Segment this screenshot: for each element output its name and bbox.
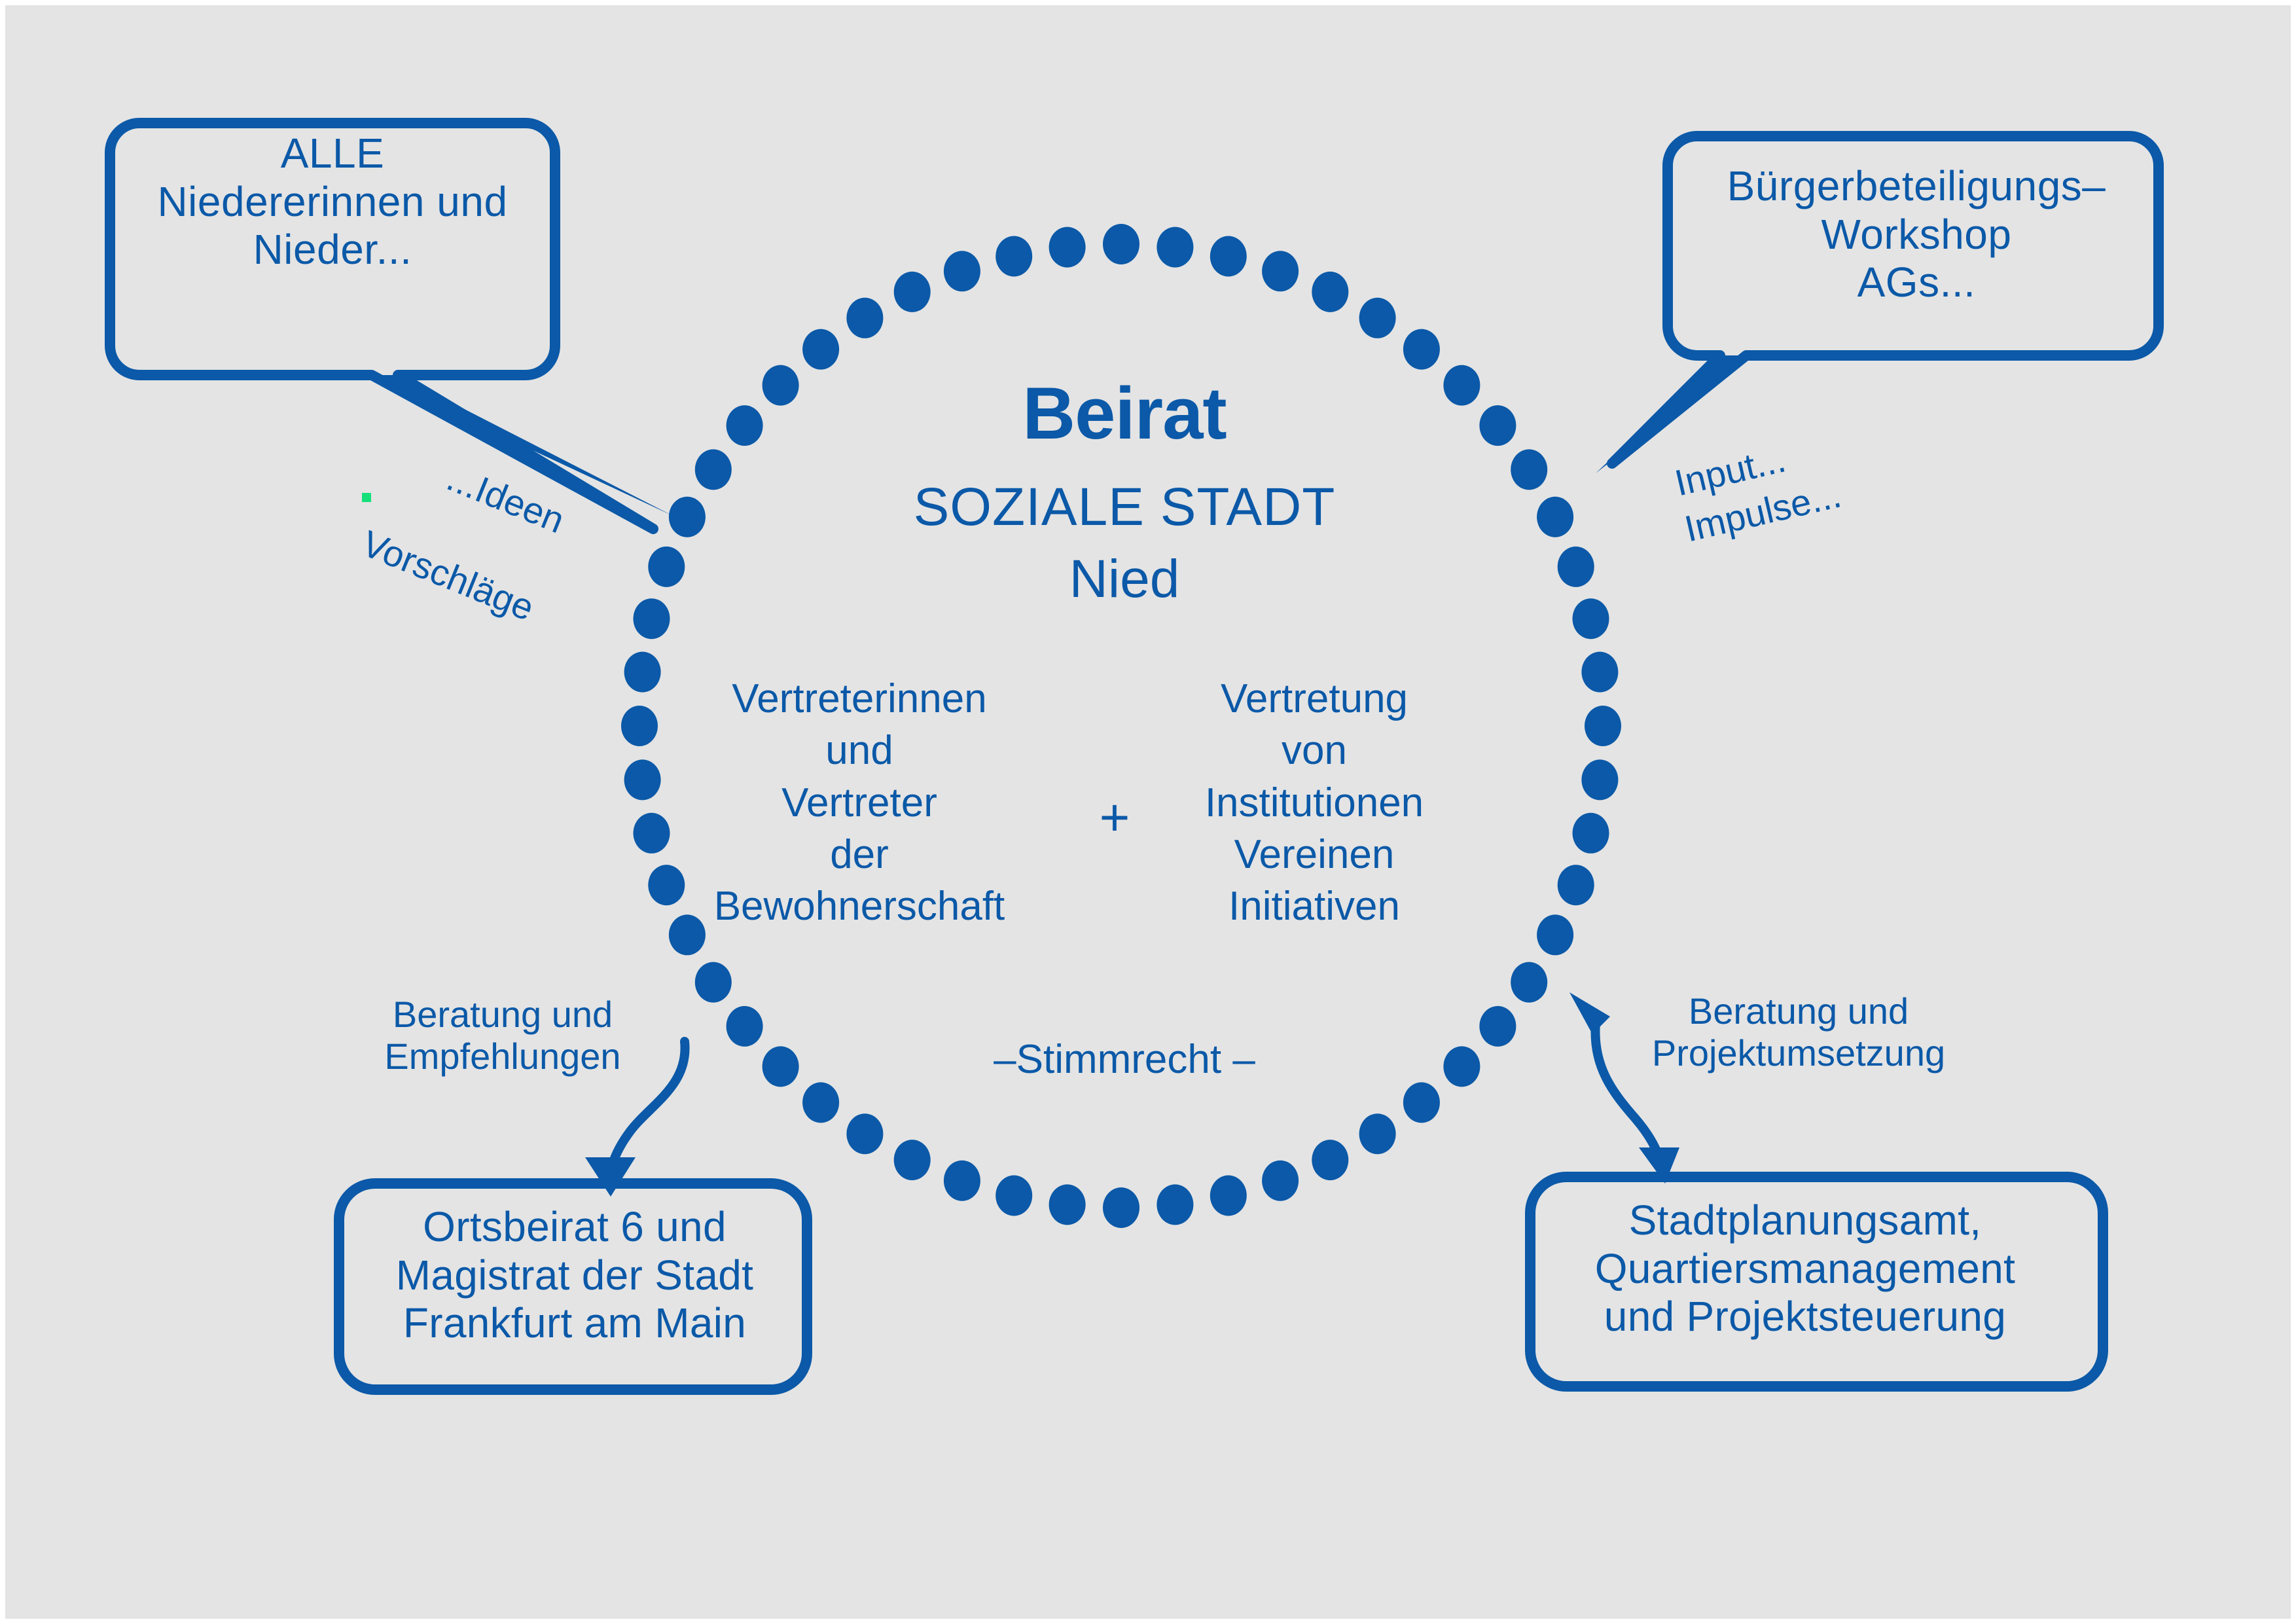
circle-dot: [648, 865, 685, 905]
bubble-top-left-text: ALLE Niedererinnen und Nieder...: [103, 130, 562, 274]
circle-dot: [1312, 272, 1348, 312]
box-bottom-left-text: Ortsbeirat 6 und Magistrat der Stadt Fra…: [346, 1203, 804, 1348]
circle-dot: [1049, 227, 1086, 268]
circle-dot: [669, 497, 706, 537]
circle-dot: [1511, 449, 1547, 490]
circle-dot: [894, 1140, 931, 1180]
circle-dot: [1210, 1176, 1247, 1216]
circle-dot: [802, 329, 839, 370]
circle-dot: [1558, 865, 1594, 905]
circle-dot: [894, 272, 931, 312]
center-column-left: Vertreterinnen und Vertreter der Bewohne…: [686, 673, 1033, 933]
circle-dot: [1157, 1184, 1193, 1225]
circle-dot: [846, 1113, 883, 1154]
circle-dot: [695, 449, 732, 490]
circle-dot: [1403, 329, 1440, 370]
circle-dot: [1103, 1187, 1139, 1228]
circle-dot: [1359, 1113, 1396, 1154]
circle-dot: [1210, 236, 1247, 277]
circle-dot: [1573, 813, 1609, 854]
circle-dot: [624, 759, 661, 800]
circle-dot: [1479, 405, 1516, 446]
box-bottom-right-text: Stadtplanungsamt, Quartiersmanagement un…: [1543, 1197, 2067, 1341]
circle-dot: [1103, 224, 1139, 264]
center-subtitle-line2: Nied: [778, 549, 1471, 610]
circle-dot: [726, 405, 763, 446]
bubble-top-right-text: Bürgerbeteiligungs– Workshop AGs...: [1687, 162, 2145, 307]
circle-dot: [846, 298, 883, 338]
circle-dot: [996, 236, 1032, 277]
circle-dot: [634, 598, 670, 639]
circle-dot: [1537, 497, 1573, 537]
label-beratung-empfehlungen: Beratung und Empfehlungen: [372, 994, 634, 1078]
circle-dot: [726, 1006, 763, 1047]
circle-dot: [1479, 1006, 1516, 1047]
circle-dot: [1537, 914, 1573, 955]
center-title: Beirat: [778, 372, 1471, 456]
circle-dot: [1403, 1082, 1440, 1123]
circle-dot: [1573, 598, 1609, 639]
circle-dot: [1049, 1184, 1086, 1225]
circle-dot: [762, 1046, 799, 1087]
label-beratung-projektumsetzung: Beratung und Projektumsetzung: [1635, 990, 1962, 1075]
center-column-right: Vertretung von Institutionen Vereinen In…: [1177, 673, 1452, 933]
diagram-canvas: ALLE Niedererinnen und Nieder... Bürgerb…: [0, 0, 2296, 1624]
circle-dot: [1581, 759, 1618, 800]
label-vorschlaege: Vorschläge: [356, 522, 540, 629]
circle-dot: [996, 1176, 1032, 1216]
circle-dot: [1558, 547, 1594, 587]
circle-dot: [944, 251, 980, 291]
circle-dot: [944, 1161, 980, 1201]
circle-dot: [1581, 652, 1618, 693]
circle-dot: [1443, 1046, 1480, 1087]
circle-dot: [634, 813, 670, 854]
plus-symbol: +: [1079, 787, 1151, 848]
circle-dot: [621, 706, 658, 746]
circle-dot: [1262, 251, 1299, 291]
circle-dot: [648, 547, 685, 587]
center-subtitle-line1: SOZIALE STADT: [778, 477, 1471, 538]
circle-dot: [695, 962, 732, 1003]
circle-dot: [624, 652, 661, 693]
label-ideen: ...Ideen: [441, 457, 570, 542]
circle-dot: [1511, 962, 1547, 1003]
circle-dot: [1585, 706, 1621, 746]
circle-dot: [1359, 298, 1396, 338]
circle-dot: [1312, 1140, 1348, 1180]
circle-dot: [802, 1082, 839, 1123]
green-artifact-dot: [362, 493, 371, 502]
stimmrecht-note: –Stimmrecht –: [935, 1036, 1314, 1083]
circle-dot: [1262, 1161, 1299, 1201]
circle-dot: [1157, 227, 1193, 268]
